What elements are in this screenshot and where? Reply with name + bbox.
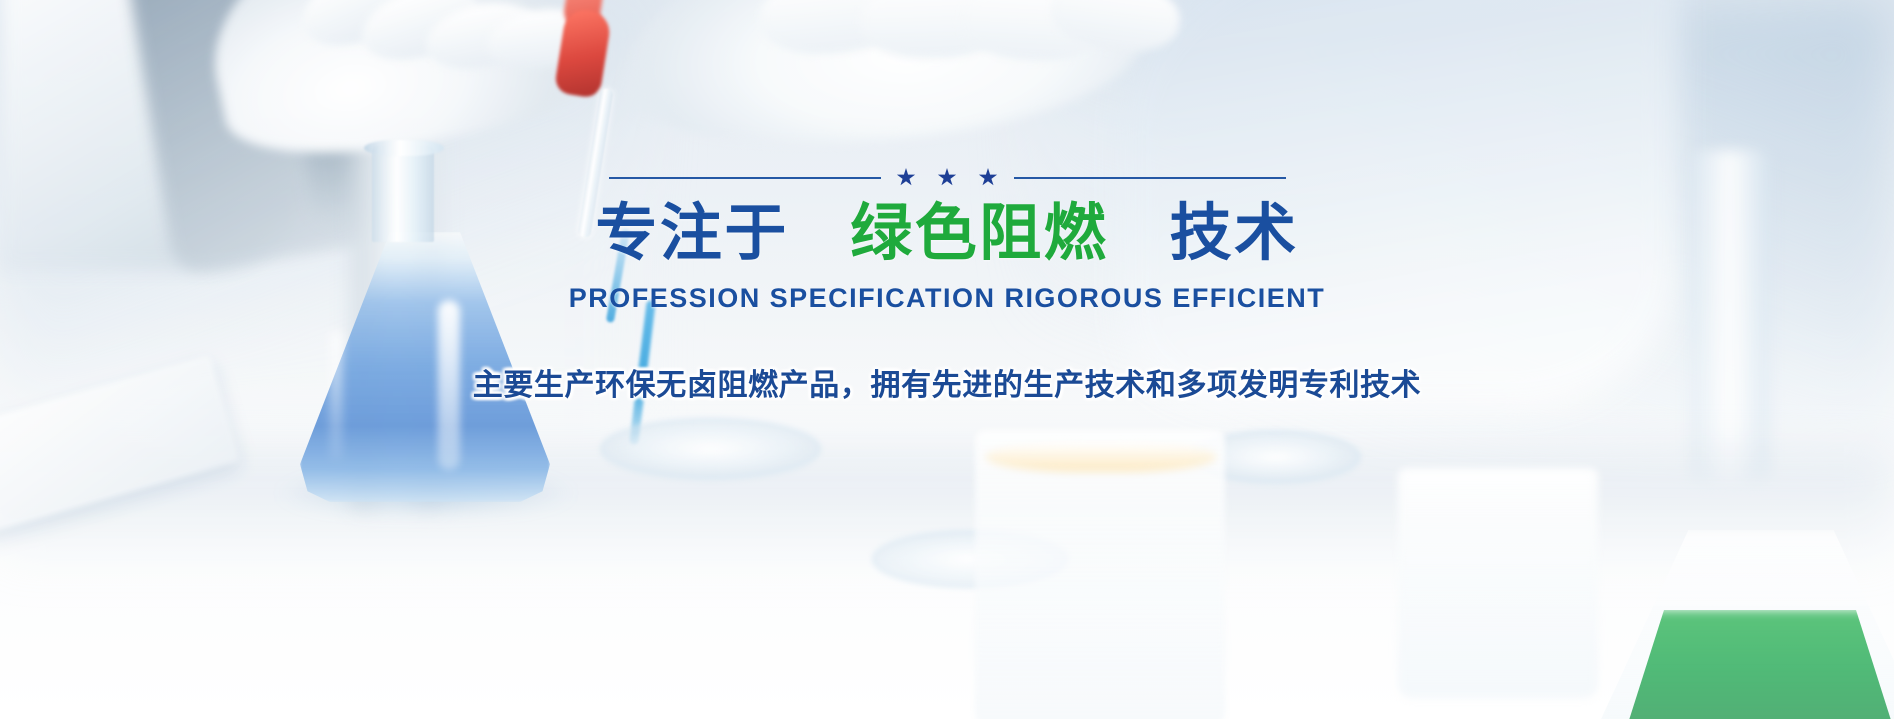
star-icon (938, 168, 957, 187)
banner-tagline: 主要生产环保无卤阻燃产品，拥有先进的生产技术和多项发明专利技术 (473, 360, 1422, 404)
divider-rule-right (1014, 177, 1286, 179)
petri-dish (600, 418, 821, 480)
banner-subtitle: PROFESSION SPECIFICATION RIGOROUS EFFICI… (569, 283, 1325, 314)
banner-content: 专注于 绿色阻燃 技术 PROFESSION SPECIFICATION RIG… (0, 0, 1894, 404)
headline-part-1: 专注于 (595, 199, 788, 268)
star-icon (897, 168, 916, 187)
hero-banner: 专注于 绿色阻燃 技术 PROFESSION SPECIFICATION RIG… (0, 0, 1894, 719)
beaker-clear (1398, 468, 1598, 698)
orange-beaker-rim (985, 442, 1217, 472)
divider-rule-left (609, 177, 881, 179)
headline-part-2: 绿色阻燃 (850, 199, 1108, 268)
decorative-divider (609, 168, 1286, 187)
banner-headline: 专注于 绿色阻燃 技术 (595, 201, 1298, 267)
headline-part-3: 技术 (1170, 199, 1299, 268)
star-group (897, 168, 998, 187)
star-icon (979, 168, 998, 187)
orange-beaker-liquid (985, 452, 1217, 719)
